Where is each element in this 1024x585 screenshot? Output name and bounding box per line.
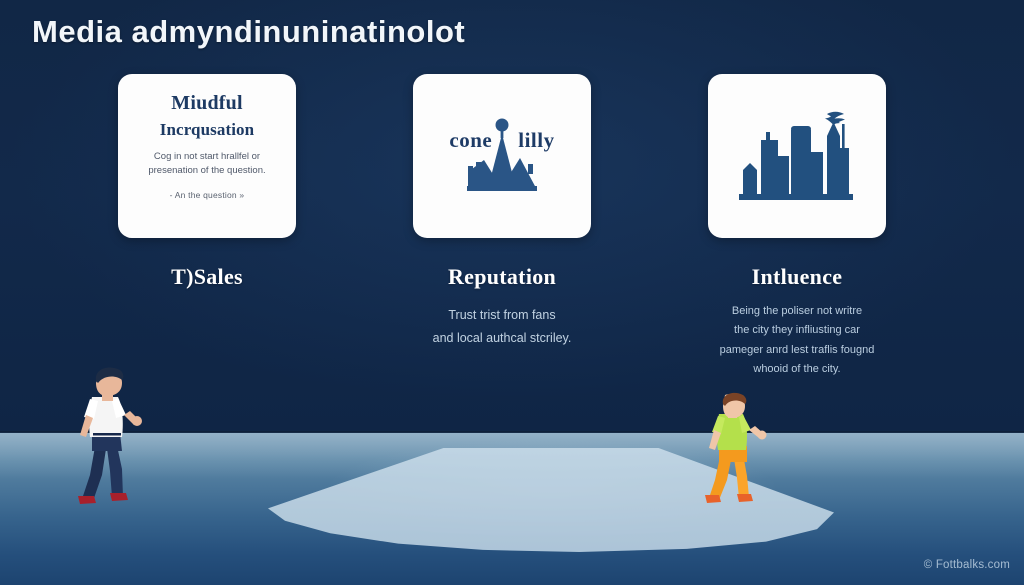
mountain-castle-icon — [454, 116, 550, 202]
card-skyline-content — [708, 74, 886, 238]
city-skyline-bird-icon — [735, 110, 859, 206]
card-mindful-heading: Miudful — [132, 92, 282, 114]
column-sales: T)Sales — [82, 264, 332, 290]
card-mindful-subheading: Incrqusation — [132, 121, 282, 140]
column-influence: Intluence Being the poliser not writreth… — [672, 264, 922, 379]
card-cone-lilly[interactable]: conelilly — [413, 74, 591, 238]
card-cone-lilly-content: conelilly — [413, 74, 591, 238]
column-influence-description: Being the poliser not writrethe city the… — [672, 302, 922, 379]
card-mindful-content: Miudful Incrqusation Cog in not start hr… — [118, 74, 296, 200]
slide-canvas: Media admyndinuninatinolot Miudful Incrq… — [0, 0, 1024, 585]
bird-icon — [825, 112, 845, 125]
card-mindful-body-line2: presenation of the question. — [132, 164, 282, 179]
watermark: © Fottbalks.com — [924, 559, 1010, 571]
column-reputation-description: Trust trist from fansand local authcal s… — [377, 304, 627, 350]
column-sales-title: T)Sales — [82, 264, 332, 290]
walking-man-right — [697, 392, 781, 510]
card-mindful-body: Cog in not start hrallfel or presenation… — [132, 150, 282, 179]
column-reputation: Reputation Trust trist from fansand loca… — [377, 264, 627, 350]
card-mindful-body-line1: Cog in not start hrallfel or — [132, 150, 282, 165]
column-influence-title: Intluence — [672, 264, 922, 290]
column-reputation-title: Reputation — [377, 264, 627, 290]
card-skyline[interactable] — [708, 74, 886, 238]
page-title: Media admyndinuninatinolot — [32, 14, 465, 50]
walking-man-left — [52, 363, 148, 507]
card-mindful[interactable]: Miudful Incrqusation Cog in not start hr… — [118, 74, 296, 238]
card-row: Miudful Incrqusation Cog in not start hr… — [0, 74, 1024, 238]
card-mindful-cta[interactable]: - An the question » — [132, 190, 282, 200]
